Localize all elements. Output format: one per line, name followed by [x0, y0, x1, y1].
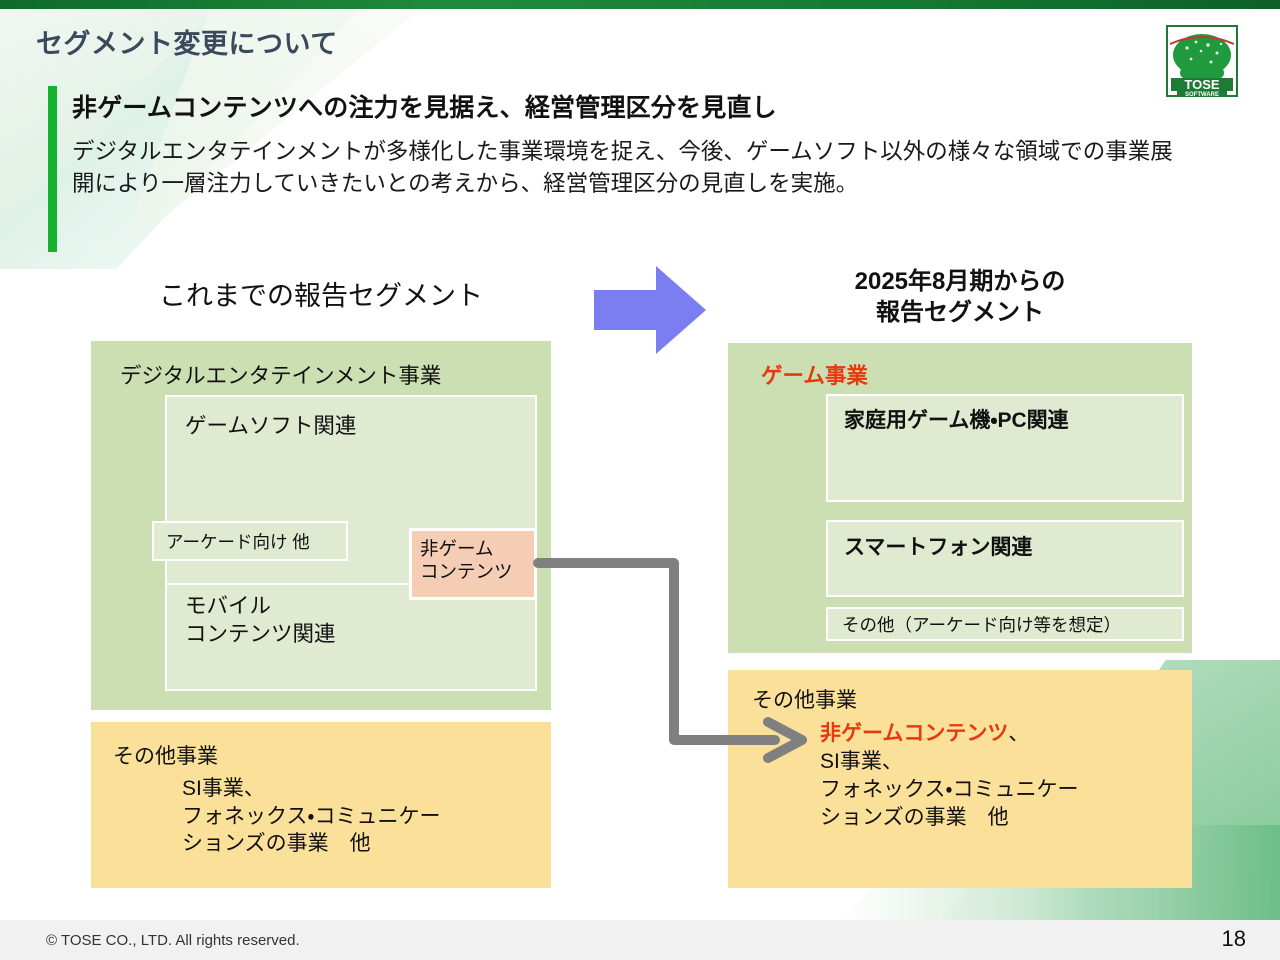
lead-body: デジタルエンタテインメントが多様化した事業環境を捉え、今後、ゲームソフト以外の様… [72, 136, 1192, 200]
other-left-detail-line3: ションズの事業 他 [182, 830, 441, 858]
box-non-game-content-line2: コンテンツ [420, 560, 534, 583]
box-digital-entertainment-label: デジタルエンタテインメント事業 [120, 359, 441, 390]
non-game-content-highlight: 非ゲームコンテンツ [820, 722, 1008, 745]
other-right-detail-line4: ションズの事業 他 [820, 804, 1079, 832]
page-number: 18 [1222, 926, 1246, 952]
box-game-other: その他（アーケード向け等を想定） [826, 607, 1184, 641]
other-right-detail-line1: 非ゲームコンテンツ、 [820, 720, 1079, 748]
other-left-detail-line1: SI事業、 [182, 775, 441, 803]
box-digital-entertainment: デジタルエンタテインメント事業 ゲームソフト関連 アーケード向け 他 モバイル … [91, 341, 551, 710]
copyright-text: © TOSE CO., LTD. All rights reserved. [46, 932, 300, 949]
lead-title: 非ゲームコンテンツへの注力を見据え、経営管理区分を見直し [72, 88, 1192, 124]
box-mobile-content-line2: コンテンツ関連 [185, 621, 535, 649]
box-other-business-left: その他事業 SI事業、 フォネックス・コミュニケー ションズの事業 他 [91, 722, 551, 888]
box-other-business-right-detail: 非ゲームコンテンツ、 SI事業、 フォネックス・コミュニケー ションズの事業 他 [820, 720, 1079, 833]
other-right-detail-line2: SI事業、 [820, 748, 1079, 776]
box-game-business: ゲーム事業 家庭用ゲーム機・PC関連 スマートフォン関連 その他（アーケード向け… [728, 343, 1192, 653]
box-console-pc: 家庭用ゲーム機・PC関連 [826, 394, 1184, 502]
top-green-bar [0, 0, 1280, 9]
right-column-heading-line1: 2025年8月期からの [728, 266, 1192, 297]
right-column-heading-line2: 報告セグメント [728, 297, 1192, 328]
green-accent-bar [48, 86, 57, 252]
box-non-game-content-line1: 非ゲーム [420, 537, 534, 560]
box-game-software-label: ゲームソフト関連 [185, 409, 356, 440]
right-arrow-purple-icon [594, 264, 708, 356]
box-other-business-right-label: その他事業 [752, 684, 857, 714]
box-other-business-left-detail: SI事業、 フォネックス・コミュニケー ションズの事業 他 [182, 775, 441, 858]
other-left-detail-line2: フォネックス・コミュニケー [182, 803, 441, 831]
other-right-detail-line1-tail: 、 [1008, 722, 1029, 745]
left-column-heading: これまでの報告セグメント [91, 274, 551, 313]
box-other-business-right: その他事業 非ゲームコンテンツ、 SI事業、 フォネックス・コミュニケー ション… [728, 670, 1192, 888]
box-smartphone: スマートフォン関連 [826, 520, 1184, 597]
box-arcade-other: アーケード向け 他 [152, 521, 348, 561]
right-column-heading: 2025年8月期からの 報告セグメント [728, 266, 1192, 328]
box-other-business-left-label: その他事業 [113, 740, 218, 770]
other-right-detail-line3: フォネックス・コミュニケー [820, 776, 1079, 804]
box-non-game-content: 非ゲーム コンテンツ [409, 528, 537, 600]
box-game-business-label: ゲーム事業 [761, 359, 868, 390]
page-title: セグメント変更について [36, 22, 338, 61]
slide-root: セグメント変更について TOSE SOFTWARE 非ゲームコンテンツへの注力を… [0, 0, 1280, 960]
